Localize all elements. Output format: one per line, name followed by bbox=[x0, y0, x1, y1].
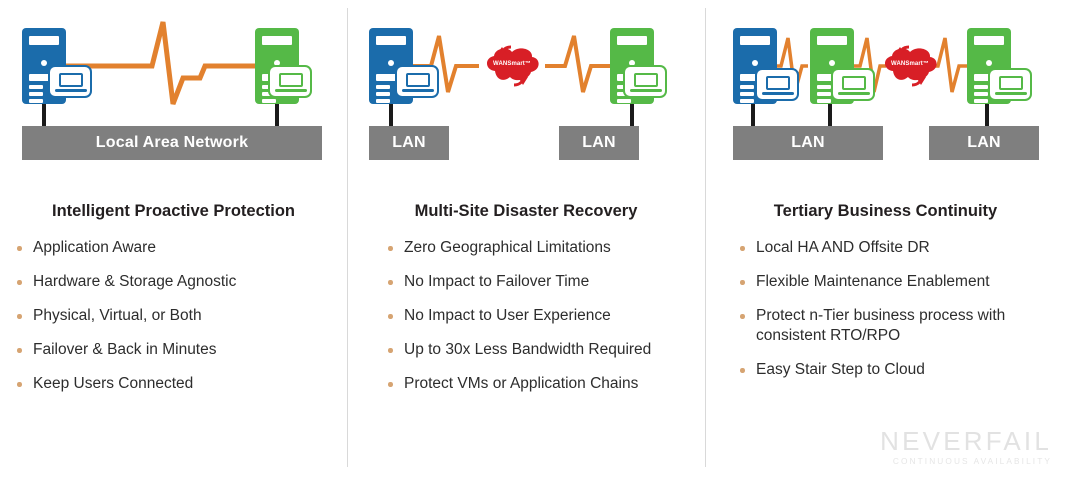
list-item-label: No Impact to Failover Time bbox=[404, 273, 589, 290]
laptop-base-icon bbox=[630, 89, 662, 92]
list-item: Local HA AND Offsite DR bbox=[727, 238, 1057, 258]
wansmart-label: WANSmart™ bbox=[879, 61, 941, 67]
list-item: Easy Stair Step to Cloud bbox=[727, 360, 1057, 380]
laptop-screen-icon bbox=[406, 73, 430, 87]
laptop-screen-icon bbox=[842, 76, 866, 90]
bullet-dot-icon bbox=[740, 280, 745, 285]
server-led-icon bbox=[388, 60, 394, 66]
list-item: Protect VMs or Application Chains bbox=[375, 374, 695, 394]
logo-tagline-text: CONTINUOUS AVAILABILITY bbox=[880, 457, 1052, 465]
bullet-dot-icon bbox=[17, 348, 22, 353]
column-tertiary-business-continuity: WANSmart™ LAN LAN Tertiary Business Cont… bbox=[705, 0, 1066, 477]
server-bay-icon bbox=[974, 85, 988, 89]
server-led-icon bbox=[986, 60, 992, 66]
lan-bar: LAN bbox=[559, 126, 639, 160]
list-item-label: Keep Users Connected bbox=[33, 375, 193, 392]
column-divider bbox=[347, 8, 348, 467]
list-item-label: Easy Stair Step to Cloud bbox=[756, 361, 925, 378]
laptop-badge-icon bbox=[48, 65, 92, 98]
laptop-screen-icon bbox=[999, 76, 1023, 90]
laptop-base-icon bbox=[275, 89, 307, 92]
network-cable bbox=[42, 104, 46, 128]
server-bay-icon bbox=[974, 92, 988, 96]
slide-panels: Local Area Network Intelligent Proactive… bbox=[0, 0, 1066, 477]
laptop-badge-icon bbox=[623, 65, 667, 98]
feature-list: Application Aware Hardware & Storage Agn… bbox=[4, 238, 344, 408]
wansmart-cloud-icon: WANSmart™ bbox=[481, 44, 543, 88]
server-bay-icon bbox=[817, 85, 831, 89]
bullet-dot-icon bbox=[740, 246, 745, 251]
list-item-label: Local HA AND Offsite DR bbox=[756, 239, 930, 256]
list-item-label: No Impact to User Experience bbox=[404, 307, 611, 324]
server-bay-icon bbox=[262, 36, 292, 45]
list-item: Keep Users Connected bbox=[4, 374, 344, 394]
laptop-screen-icon bbox=[279, 73, 303, 87]
network-cable bbox=[828, 104, 832, 128]
server-led-icon bbox=[829, 60, 835, 66]
network-cable bbox=[985, 104, 989, 128]
bullet-dot-icon bbox=[17, 280, 22, 285]
diagram-local-area-network: Local Area Network bbox=[0, 0, 347, 178]
laptop-screen-icon bbox=[766, 76, 790, 90]
bullet-dot-icon bbox=[388, 382, 393, 387]
bullet-dot-icon bbox=[388, 314, 393, 319]
server-bay-icon bbox=[740, 85, 754, 89]
column-heading: Multi-Site Disaster Recovery bbox=[347, 202, 705, 221]
bullet-dot-icon bbox=[740, 368, 745, 373]
network-cable bbox=[389, 104, 393, 128]
list-item: Protect n-Tier business process with con… bbox=[727, 306, 1057, 346]
network-cable bbox=[630, 104, 634, 128]
feature-list: Zero Geographical Limitations No Impact … bbox=[375, 238, 695, 408]
list-item-label: Physical, Virtual, or Both bbox=[33, 307, 202, 324]
server-bay-icon bbox=[617, 99, 631, 103]
server-bay-icon bbox=[376, 36, 406, 45]
wansmart-label: WANSmart™ bbox=[481, 61, 543, 67]
list-item-label: Hardware & Storage Agnostic bbox=[33, 273, 236, 290]
laptop-base-icon bbox=[838, 92, 870, 95]
server-bay-icon bbox=[740, 99, 754, 103]
list-item-label: Flexible Maintenance Enablement bbox=[756, 273, 990, 290]
column-divider bbox=[705, 8, 706, 467]
list-item: Flexible Maintenance Enablement bbox=[727, 272, 1057, 292]
laptop-base-icon bbox=[402, 89, 434, 92]
server-bay-icon bbox=[817, 99, 831, 103]
neverfail-logo: NEVERFAIL CONTINUOUS AVAILABILITY bbox=[880, 428, 1052, 465]
server-bay-icon bbox=[29, 36, 59, 45]
list-item-label: Up to 30x Less Bandwidth Required bbox=[404, 341, 651, 358]
diagram-tertiary: WANSmart™ LAN LAN bbox=[705, 0, 1066, 178]
list-item-label: Failover & Back in Minutes bbox=[33, 341, 217, 358]
list-item-label: Protect n-Tier business process with con… bbox=[756, 307, 1005, 344]
diagram-multi-site: WANSmart™ LAN LAN bbox=[347, 0, 705, 178]
server-bay-icon bbox=[974, 36, 1004, 45]
list-item: Zero Geographical Limitations bbox=[375, 238, 695, 258]
server-bay-icon bbox=[29, 85, 43, 89]
list-item: Hardware & Storage Agnostic bbox=[4, 272, 344, 292]
bullet-dot-icon bbox=[17, 246, 22, 251]
lan-bar: LAN bbox=[733, 126, 883, 160]
bullet-dot-icon bbox=[740, 314, 745, 319]
list-item-label: Application Aware bbox=[33, 239, 156, 256]
server-bay-icon bbox=[974, 99, 988, 103]
list-item-label: Protect VMs or Application Chains bbox=[404, 375, 638, 392]
list-item: No Impact to User Experience bbox=[375, 306, 695, 326]
laptop-base-icon bbox=[762, 92, 794, 95]
laptop-badge-icon bbox=[755, 68, 799, 101]
lan-bar: LAN bbox=[369, 126, 449, 160]
logo-brand-text: NEVERFAIL bbox=[880, 428, 1052, 454]
laptop-base-icon bbox=[55, 89, 87, 92]
bullet-dot-icon bbox=[388, 280, 393, 285]
column-heading: Intelligent Proactive Protection bbox=[0, 202, 347, 221]
server-bay-icon bbox=[376, 85, 390, 89]
server-bay-icon bbox=[376, 92, 390, 96]
laptop-base-icon bbox=[995, 92, 1027, 95]
laptop-badge-icon bbox=[988, 68, 1032, 101]
server-led-icon bbox=[752, 60, 758, 66]
laptop-badge-icon bbox=[395, 65, 439, 98]
server-bay-icon bbox=[740, 36, 770, 45]
bullet-dot-icon bbox=[17, 382, 22, 387]
server-bay-icon bbox=[817, 36, 847, 45]
bullet-dot-icon bbox=[388, 246, 393, 251]
laptop-badge-icon bbox=[831, 68, 875, 101]
server-bay-icon bbox=[740, 92, 754, 96]
bullet-dot-icon bbox=[17, 314, 22, 319]
list-item: Failover & Back in Minutes bbox=[4, 340, 344, 360]
server-bay-icon bbox=[617, 36, 647, 45]
column-multi-site-disaster-recovery: WANSmart™ LAN LAN Multi-Site Disaster Re… bbox=[347, 0, 705, 477]
lan-bar: Local Area Network bbox=[22, 126, 322, 160]
server-bay-icon bbox=[262, 99, 276, 103]
list-item: Physical, Virtual, or Both bbox=[4, 306, 344, 326]
column-heading: Tertiary Business Continuity bbox=[705, 202, 1066, 221]
laptop-badge-icon bbox=[268, 65, 312, 98]
column-intelligent-proactive-protection: Local Area Network Intelligent Proactive… bbox=[0, 0, 347, 477]
network-cable bbox=[751, 104, 755, 128]
list-item: Up to 30x Less Bandwidth Required bbox=[375, 340, 695, 360]
feature-list: Local HA AND Offsite DR Flexible Mainten… bbox=[727, 238, 1057, 394]
network-cable bbox=[275, 104, 279, 128]
lan-bar: LAN bbox=[929, 126, 1039, 160]
laptop-screen-icon bbox=[59, 73, 83, 87]
list-item-label: Zero Geographical Limitations bbox=[404, 239, 611, 256]
server-bay-icon bbox=[817, 92, 831, 96]
list-item: Application Aware bbox=[4, 238, 344, 258]
server-bay-icon bbox=[29, 92, 43, 96]
bullet-dot-icon bbox=[388, 348, 393, 353]
server-led-icon bbox=[41, 60, 47, 66]
list-item: No Impact to Failover Time bbox=[375, 272, 695, 292]
server-bay-icon bbox=[376, 99, 390, 103]
server-bay-icon bbox=[29, 99, 43, 103]
laptop-screen-icon bbox=[634, 73, 658, 87]
wansmart-cloud-icon: WANSmart™ bbox=[879, 44, 941, 88]
